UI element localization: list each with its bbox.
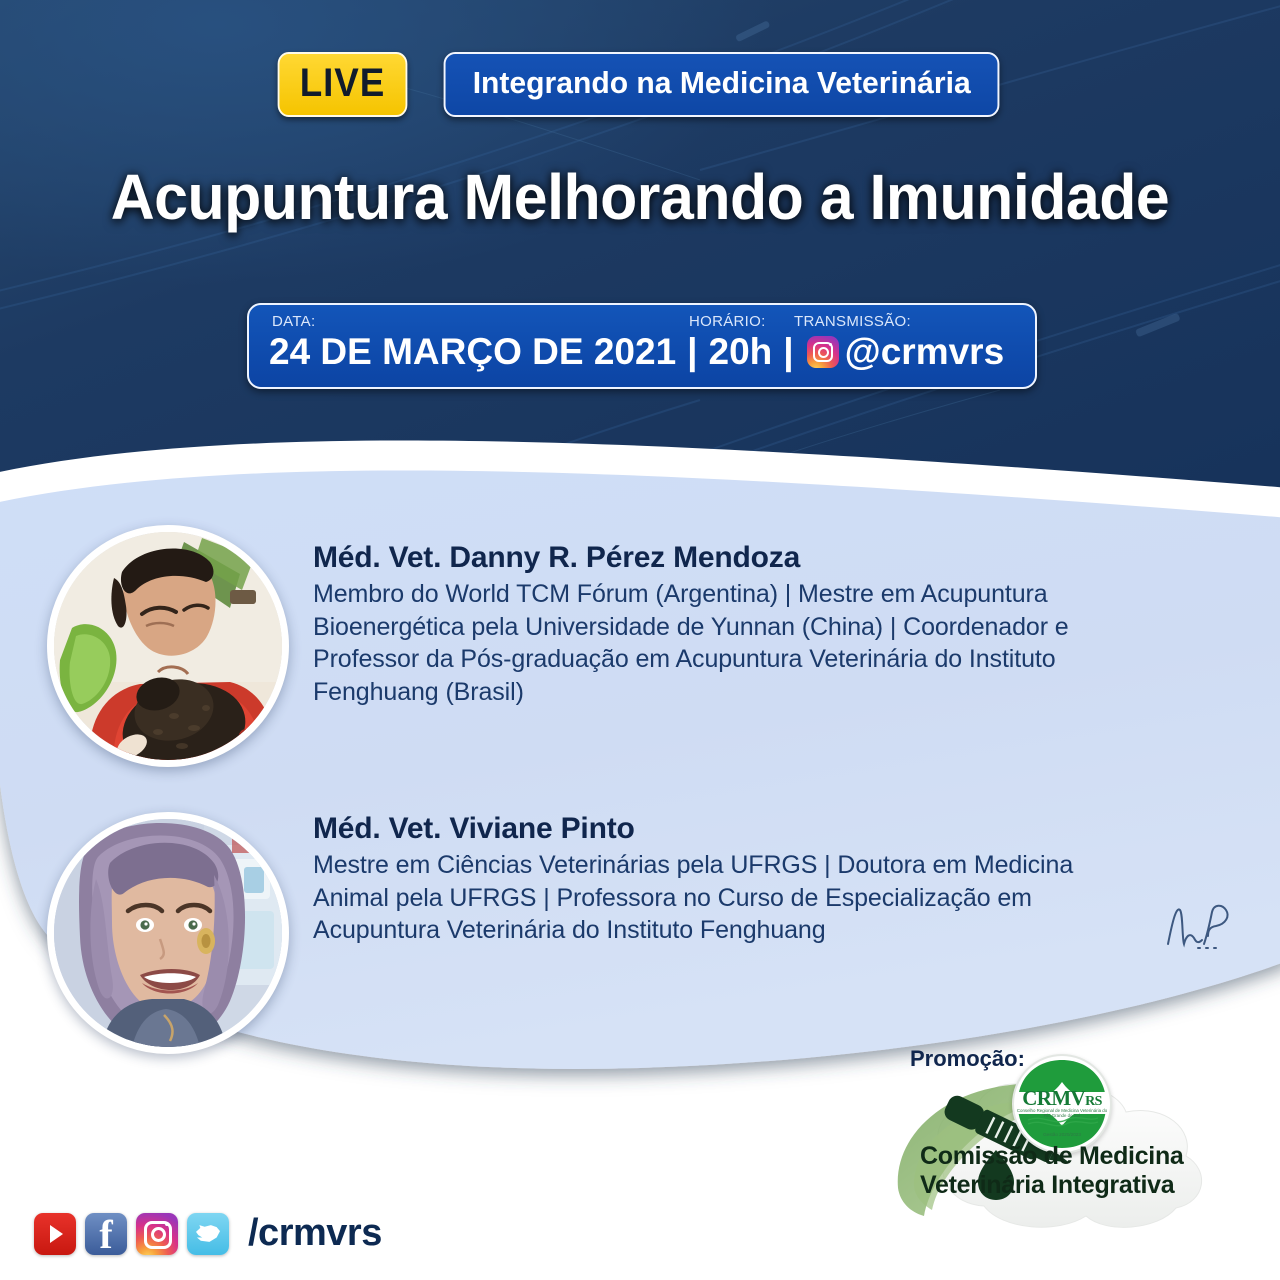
facebook-icon[interactable] — [85, 1213, 127, 1255]
crmv-rs-logo: CRMVRS Conselho Regional de Medicina Vet… — [1012, 1054, 1112, 1154]
crmv-term: Gestão 2020/2023 — [1014, 1132, 1110, 1137]
speaker-1-name: Méd. Vet. Danny R. Pérez Mendoza — [313, 541, 1123, 575]
speaker-2-text: Méd. Vet. Viviane Pinto Mestre em Ciênci… — [313, 812, 1123, 947]
speaker-1-text: Méd. Vet. Danny R. Pérez Mendoza Membro … — [313, 541, 1123, 708]
avatar-speaker-2 — [47, 812, 289, 1054]
speaker-2-name: Méd. Vet. Viviane Pinto — [313, 812, 1123, 846]
commission-line-2: Veterinária Integrativa — [920, 1171, 1250, 1200]
speaker-1-bio: Membro do World TCM Fórum (Argentina) | … — [313, 578, 1123, 708]
poster-canvas: LIVE Integrando na Medicina Veterinária … — [0, 0, 1280, 1280]
signature-mark-icon — [1160, 898, 1246, 956]
speaker-2-bio: Mestre em Ciências Veterinárias pela UFR… — [313, 849, 1123, 947]
instagram-icon[interactable] — [136, 1213, 178, 1255]
avatar-speaker-1 — [47, 525, 289, 767]
twitter-icon[interactable] — [187, 1213, 229, 1255]
social-handle: /crmvrs — [248, 1212, 382, 1255]
social-footer: /crmvrs — [34, 1212, 382, 1255]
photo-danny — [54, 532, 282, 760]
promotion-label: Promoção: — [910, 1046, 1025, 1072]
crmv-subtitle: Conselho Regional de Medicina Veterinári… — [1014, 1108, 1110, 1118]
commission-line-1: Comissão de Medicina — [920, 1142, 1250, 1171]
promotion-logo: Promoção: CRMVRS Conselho Regional de Me… — [880, 1038, 1270, 1238]
commission-name: Comissão de Medicina Veterinária Integra… — [920, 1142, 1250, 1199]
photo-viviane — [54, 819, 282, 1047]
youtube-icon[interactable] — [34, 1213, 76, 1255]
